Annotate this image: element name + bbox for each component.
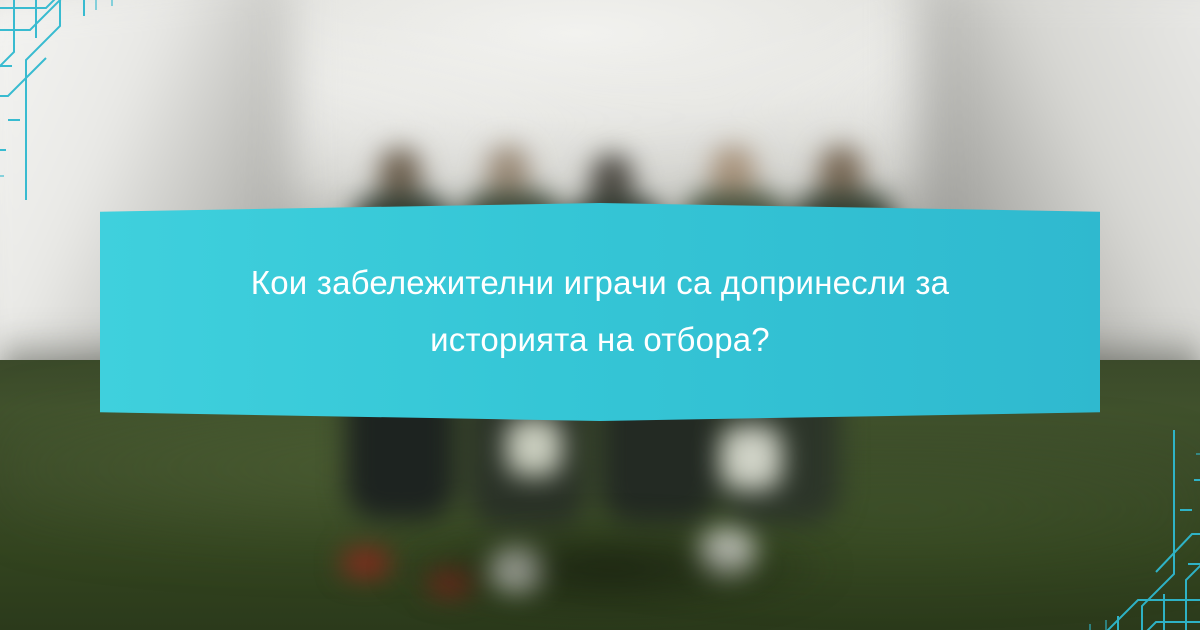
headline-banner: Кои забележителни играчи са допринесли з… — [100, 203, 1100, 421]
page-title: Кои забележителни играчи са допринесли з… — [190, 255, 1010, 369]
share-card: Кои забележителни играчи са допринесли з… — [0, 0, 1200, 630]
group-shadow — [290, 490, 930, 620]
